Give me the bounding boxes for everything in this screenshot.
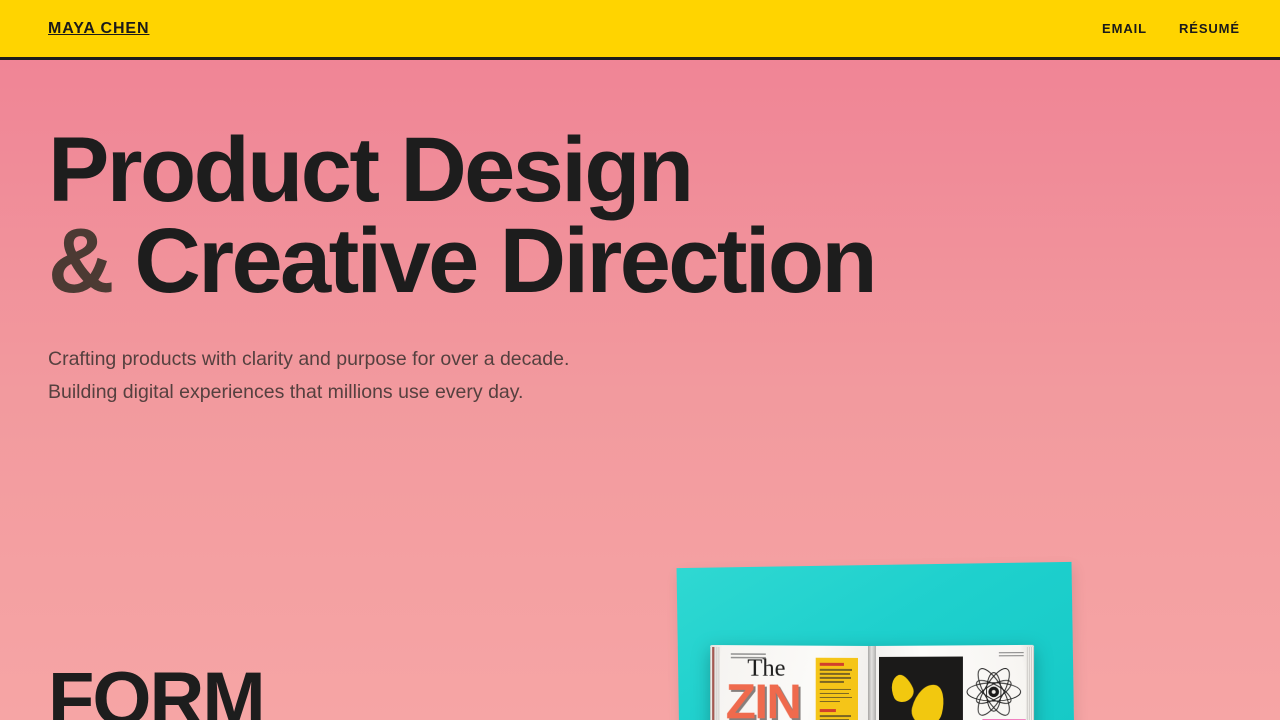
right-page-meta-lines — [999, 652, 1024, 658]
brand-logo[interactable]: MAYA CHEN — [48, 20, 149, 38]
hero-title-line-1: Product Design — [48, 125, 1232, 216]
page-block-edge-left — [710, 647, 719, 720]
left-page-yellow-sidebar — [816, 658, 858, 720]
hero-ampersand: & — [48, 210, 111, 312]
right-page-black-panel — [879, 657, 963, 720]
primary-nav: EMAIL RÉSUMÉ — [1102, 21, 1240, 36]
hero-title-line-2: & Creative Direction — [48, 216, 1232, 307]
pear-shape-large-icon — [908, 681, 948, 720]
nav-link-resume[interactable]: RÉSUMÉ — [1179, 21, 1240, 36]
page-title: Product Design & Creative Direction — [48, 125, 1232, 307]
section-heading-form: FORM — [48, 662, 264, 720]
magazine-spread-photo: The ZIN — [660, 545, 1100, 720]
magazine-right-page — [870, 645, 1034, 720]
site-header: MAYA CHEN EMAIL RÉSUMÉ — [0, 0, 1280, 60]
sidebar-rule — [820, 663, 844, 666]
page-root: MAYA CHEN EMAIL RÉSUMÉ Product Design & … — [0, 0, 1280, 720]
hero-subtitle-line-1: Crafting products with clarity and purpo… — [48, 343, 1232, 376]
hero-subtitle-line-2: Building digital experiences that millio… — [48, 376, 1232, 409]
nav-link-email[interactable]: EMAIL — [1102, 21, 1147, 36]
pear-shape-small-icon — [886, 672, 916, 705]
hero-subtitle: Crafting products with clarity and purpo… — [48, 343, 1232, 409]
page-block-edge-right — [1026, 647, 1034, 720]
atom-diagram-icon — [964, 667, 1024, 716]
left-page-headline: ZIN — [726, 679, 801, 720]
hero-section: Product Design & Creative Direction Craf… — [0, 63, 1280, 409]
magazine-gutter — [868, 646, 876, 720]
magazine-left-page: The ZIN — [710, 645, 870, 720]
hero-title-line-2-text: Creative Direction — [134, 210, 875, 312]
open-magazine: The ZIN — [713, 646, 1031, 720]
